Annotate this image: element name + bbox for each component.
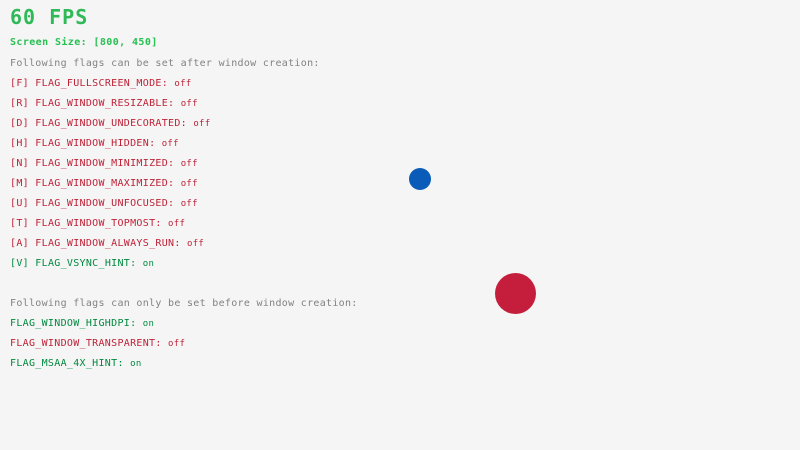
flag-name: FLAG_VSYNC_HINT: <box>35 258 136 269</box>
section-header-before-creation: Following flags can only be set before w… <box>10 299 358 309</box>
flag-value: off <box>162 139 179 149</box>
flag-value: off <box>168 219 185 229</box>
flag-shortcut-key: [N] <box>10 158 29 169</box>
flag-name: FLAG_WINDOW_HIDDEN: <box>35 138 155 149</box>
flag-shortcut-key: [U] <box>10 198 29 209</box>
flag-value: off <box>193 119 210 129</box>
flag-row[interactable]: [V] FLAG_VSYNC_HINT: on <box>10 259 154 269</box>
flag-shortcut-key: [R] <box>10 98 29 109</box>
flag-shortcut-key: [F] <box>10 78 29 89</box>
flag-row[interactable]: [D] FLAG_WINDOW_UNDECORATED: off <box>10 119 210 129</box>
flag-row[interactable]: [U] FLAG_WINDOW_UNFOCUSED: off <box>10 199 198 209</box>
raylib-window-flags-canvas[interactable]: 60 FPS Screen Size: [800, 450] Following… <box>0 0 800 450</box>
flag-value: off <box>187 239 204 249</box>
flag-value: off <box>168 339 185 349</box>
flag-row[interactable]: FLAG_MSAA_4X_HINT: on <box>10 359 142 369</box>
flag-row[interactable]: [M] FLAG_WINDOW_MAXIMIZED: off <box>10 179 198 189</box>
flag-name: FLAG_WINDOW_UNDECORATED: <box>35 118 187 129</box>
section-header-after-creation: Following flags can be set after window … <box>10 59 320 69</box>
flag-row[interactable]: [F] FLAG_FULLSCREEN_MODE: off <box>10 79 192 89</box>
flag-value: off <box>174 79 191 89</box>
flag-name: FLAG_WINDOW_ALWAYS_RUN: <box>35 238 180 249</box>
flag-row[interactable]: [A] FLAG_WINDOW_ALWAYS_RUN: off <box>10 239 204 249</box>
flag-value: off <box>181 99 198 109</box>
flag-value: off <box>181 199 198 209</box>
flag-row[interactable]: FLAG_WINDOW_HIGHDPI: on <box>10 319 154 329</box>
flag-shortcut-key: [A] <box>10 238 29 249</box>
flag-row[interactable]: [T] FLAG_WINDOW_TOPMOST: off <box>10 219 185 229</box>
flag-shortcut-key: [H] <box>10 138 29 149</box>
flag-value: off <box>181 179 198 189</box>
flag-shortcut-key: [T] <box>10 218 29 229</box>
flag-name: FLAG_WINDOW_TOPMOST: <box>35 218 161 229</box>
flag-value: on <box>130 359 141 369</box>
flag-shortcut-key: [D] <box>10 118 29 129</box>
flag-shortcut-key: [M] <box>10 178 29 189</box>
flag-name: FLAG_WINDOW_MINIMIZED: <box>35 158 174 169</box>
flag-row[interactable]: FLAG_WINDOW_TRANSPARENT: off <box>10 339 185 349</box>
flag-name: FLAG_WINDOW_UNFOCUSED: <box>35 198 174 209</box>
ball-red <box>495 273 536 314</box>
flag-value: on <box>143 319 154 329</box>
flag-value: on <box>143 259 154 269</box>
flag-name: FLAG_WINDOW_TRANSPARENT: <box>10 338 162 349</box>
flag-name: FLAG_FULLSCREEN_MODE: <box>35 78 168 89</box>
flag-row[interactable]: [R] FLAG_WINDOW_RESIZABLE: off <box>10 99 198 109</box>
flag-name: FLAG_WINDOW_MAXIMIZED: <box>35 178 174 189</box>
flag-row[interactable]: [N] FLAG_WINDOW_MINIMIZED: off <box>10 159 198 169</box>
flag-name: FLAG_WINDOW_RESIZABLE: <box>35 98 174 109</box>
flag-name: FLAG_MSAA_4X_HINT: <box>10 358 124 369</box>
screen-size-label: Screen Size: [800, 450] <box>10 38 158 48</box>
flag-row[interactable]: [H] FLAG_WINDOW_HIDDEN: off <box>10 139 179 149</box>
flag-shortcut-key: [V] <box>10 258 29 269</box>
fps-counter: 60 FPS <box>10 7 88 27</box>
ball-blue <box>409 168 431 190</box>
flag-name: FLAG_WINDOW_HIGHDPI: <box>10 318 136 329</box>
flag-value: off <box>181 159 198 169</box>
